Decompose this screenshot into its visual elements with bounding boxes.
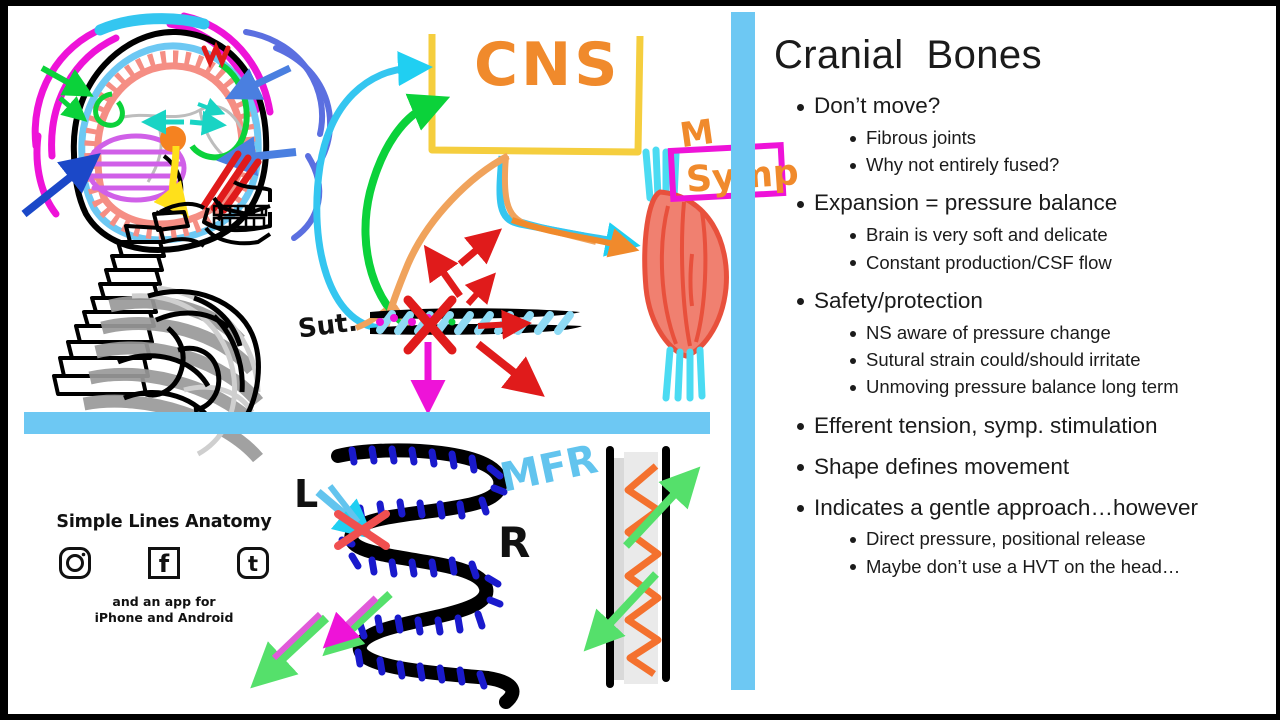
bullet-level-2: Constant production/CSF flow — [768, 250, 1276, 276]
bullet-level-2: Unmoving pressure balance long term — [768, 374, 1276, 400]
bullet-level-1: Shape defines movement — [768, 451, 1276, 483]
bullet-level-2: Why not entirely fused? — [768, 152, 1276, 178]
svg-text:t: t — [248, 552, 258, 576]
label-cns: CNS — [474, 30, 620, 100]
brand-title: Simple Lines Anatomy — [34, 512, 294, 532]
membrane-tension-figure — [600, 450, 684, 684]
bullet-level-2: Brain is very soft and delicate — [768, 222, 1276, 248]
label-m: M — [677, 112, 716, 156]
horizontal-accent-bar — [24, 412, 710, 434]
vertical-accent-bar — [731, 12, 755, 690]
svg-text:f: f — [159, 550, 170, 578]
instagram-icon[interactable] — [58, 546, 92, 580]
skull-brain-diagram — [24, 16, 330, 458]
suture-cross-section — [370, 242, 582, 394]
page-title: Cranial Bones — [774, 34, 1276, 76]
brand-subtitle: and an app for iPhone and Android — [34, 594, 294, 626]
label-left: L — [294, 472, 318, 516]
twitter-icon[interactable]: t — [236, 546, 270, 580]
branding-block: Simple Lines Anatomy f t and an app for … — [34, 512, 294, 626]
label-mfr: MFR — [496, 436, 601, 501]
bullet-level-1: Efferent tension, symp. stimulation — [768, 410, 1276, 442]
text-content-column: Cranial Bones Don’t move?Fibrous jointsW… — [768, 34, 1276, 581]
bullet-level-2: Sutural strain could/should irritate — [768, 347, 1276, 373]
bullet-level-1: Indicates a gentle approach…however — [768, 492, 1276, 524]
label-right: R — [498, 518, 530, 567]
label-sut: Sut. — [296, 307, 359, 344]
bullet-level-1: Expansion = pressure balance — [768, 187, 1276, 219]
facebook-icon[interactable]: f — [147, 546, 181, 580]
slide-root: CNS M Symp Sut. MFR L R Simple Lines Ana… — [0, 0, 1280, 720]
social-icon-row: f t — [58, 546, 270, 580]
bullet-level-1: Safety/protection — [768, 285, 1276, 317]
bullet-level-2: Fibrous joints — [768, 125, 1276, 151]
bullet-level-2: NS aware of pressure change — [768, 320, 1276, 346]
bullet-list: Don’t move?Fibrous jointsWhy not entirel… — [768, 90, 1276, 580]
bullet-level-1: Don’t move? — [768, 90, 1276, 122]
bullet-level-2: Maybe don’t use a HVT on the head… — [768, 554, 1276, 580]
slide-canvas: CNS M Symp Sut. MFR L R Simple Lines Ana… — [8, 6, 1276, 714]
bullet-level-2: Direct pressure, positional release — [768, 526, 1276, 552]
